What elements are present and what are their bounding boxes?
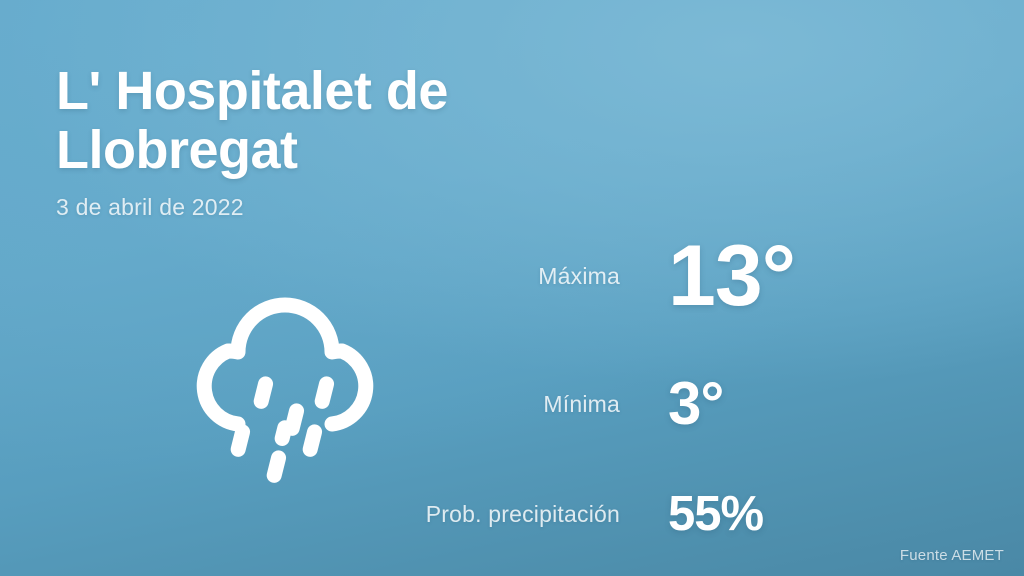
stat-label-maxima: Máxima <box>410 263 668 290</box>
rain-drop <box>265 449 288 485</box>
rain-drop <box>301 423 324 459</box>
weather-card: L' Hospitalet de Llobregat 3 de abril de… <box>0 0 1024 576</box>
stat-value-precipitation: 55% <box>668 490 763 539</box>
rain-cloud-glyph <box>176 272 400 496</box>
rain-drop <box>313 375 336 411</box>
stats-list: Máxima 13° Mínima 3° Prob. precipitación… <box>410 212 930 560</box>
header: L' Hospitalet de Llobregat 3 de abril de… <box>56 62 676 221</box>
rain-drop <box>252 375 275 411</box>
rain-drops <box>229 375 336 485</box>
stat-label-minima: Mínima <box>410 391 668 418</box>
stat-row-minima: Mínima 3° <box>410 340 930 468</box>
stat-value-maxima: 13° <box>668 233 795 319</box>
source-attribution: Fuente AEMET <box>900 547 1004 564</box>
cloud-outline <box>204 305 366 424</box>
stat-value-minima: 3° <box>668 374 723 434</box>
rain-cloud-icon <box>176 272 400 496</box>
stat-label-precipitation: Prob. precipitación <box>410 501 668 528</box>
page-title: L' Hospitalet de Llobregat <box>56 62 676 180</box>
stat-row-maxima: Máxima 13° <box>410 212 930 340</box>
stat-row-precipitation: Prob. precipitación 55% <box>410 468 930 560</box>
